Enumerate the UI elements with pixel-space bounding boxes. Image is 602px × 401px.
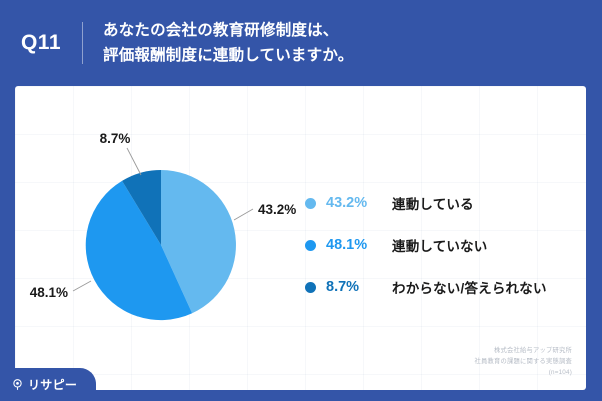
legend-label-3: わからない/答えられない — [392, 277, 547, 297]
legend-percent-1: 43.2% — [326, 195, 392, 211]
chart-card: 8.7% 43.2% 48.1% 43.2% 連動している 48.1% 連動して… — [15, 86, 586, 390]
callout-right: 43.2% — [258, 202, 296, 217]
source-line-2: 社員教育の課題に関する実態調査 — [475, 356, 572, 367]
source-note: 株式会社給与アップ研究所 社員教育の課題に関する実態調査 (n=104) — [475, 345, 572, 378]
question-header: Q11 あなたの会社の教育研修制度は、 評価報酬制度に連動していますか。 — [0, 0, 602, 86]
leader-line-right — [234, 209, 253, 220]
pin-icon — [11, 378, 24, 391]
question-line-2: 評価報酬制度に連動していますか。 — [103, 43, 353, 68]
legend-dot-icon-2 — [305, 240, 316, 251]
legend-percent-3: 8.7% — [326, 279, 392, 295]
legend-dot-icon-1 — [305, 198, 316, 209]
callout-left: 48.1% — [30, 285, 68, 300]
legend-dot-icon-3 — [305, 282, 316, 293]
source-line-1: 株式会社給与アップ研究所 — [475, 345, 572, 356]
legend-item-1[interactable]: 43.2% 連動している — [305, 182, 575, 224]
leader-line-top — [127, 148, 141, 175]
legend-label-1: 連動している — [392, 193, 474, 213]
logo-badge[interactable]: リサピー — [0, 368, 96, 401]
leader-line-left — [73, 281, 91, 291]
legend-percent-2: 48.1% — [326, 237, 392, 253]
question-line-1: あなたの会社の教育研修制度は、 — [103, 18, 353, 43]
callout-top: 8.7% — [100, 131, 131, 146]
legend-label-2: 連動していない — [392, 235, 488, 255]
question-text: あなたの会社の教育研修制度は、 評価報酬制度に連動していますか。 — [83, 18, 353, 68]
legend: 43.2% 連動している 48.1% 連動していない 8.7% わからない/答え… — [305, 182, 575, 308]
legend-item-2[interactable]: 48.1% 連動していない — [305, 224, 575, 266]
logo-text: リサピー — [28, 376, 77, 393]
source-sample-size: (n=104) — [475, 367, 572, 378]
legend-item-3[interactable]: 8.7% わからない/答えられない — [305, 266, 575, 308]
question-number: Q11 — [0, 31, 82, 55]
